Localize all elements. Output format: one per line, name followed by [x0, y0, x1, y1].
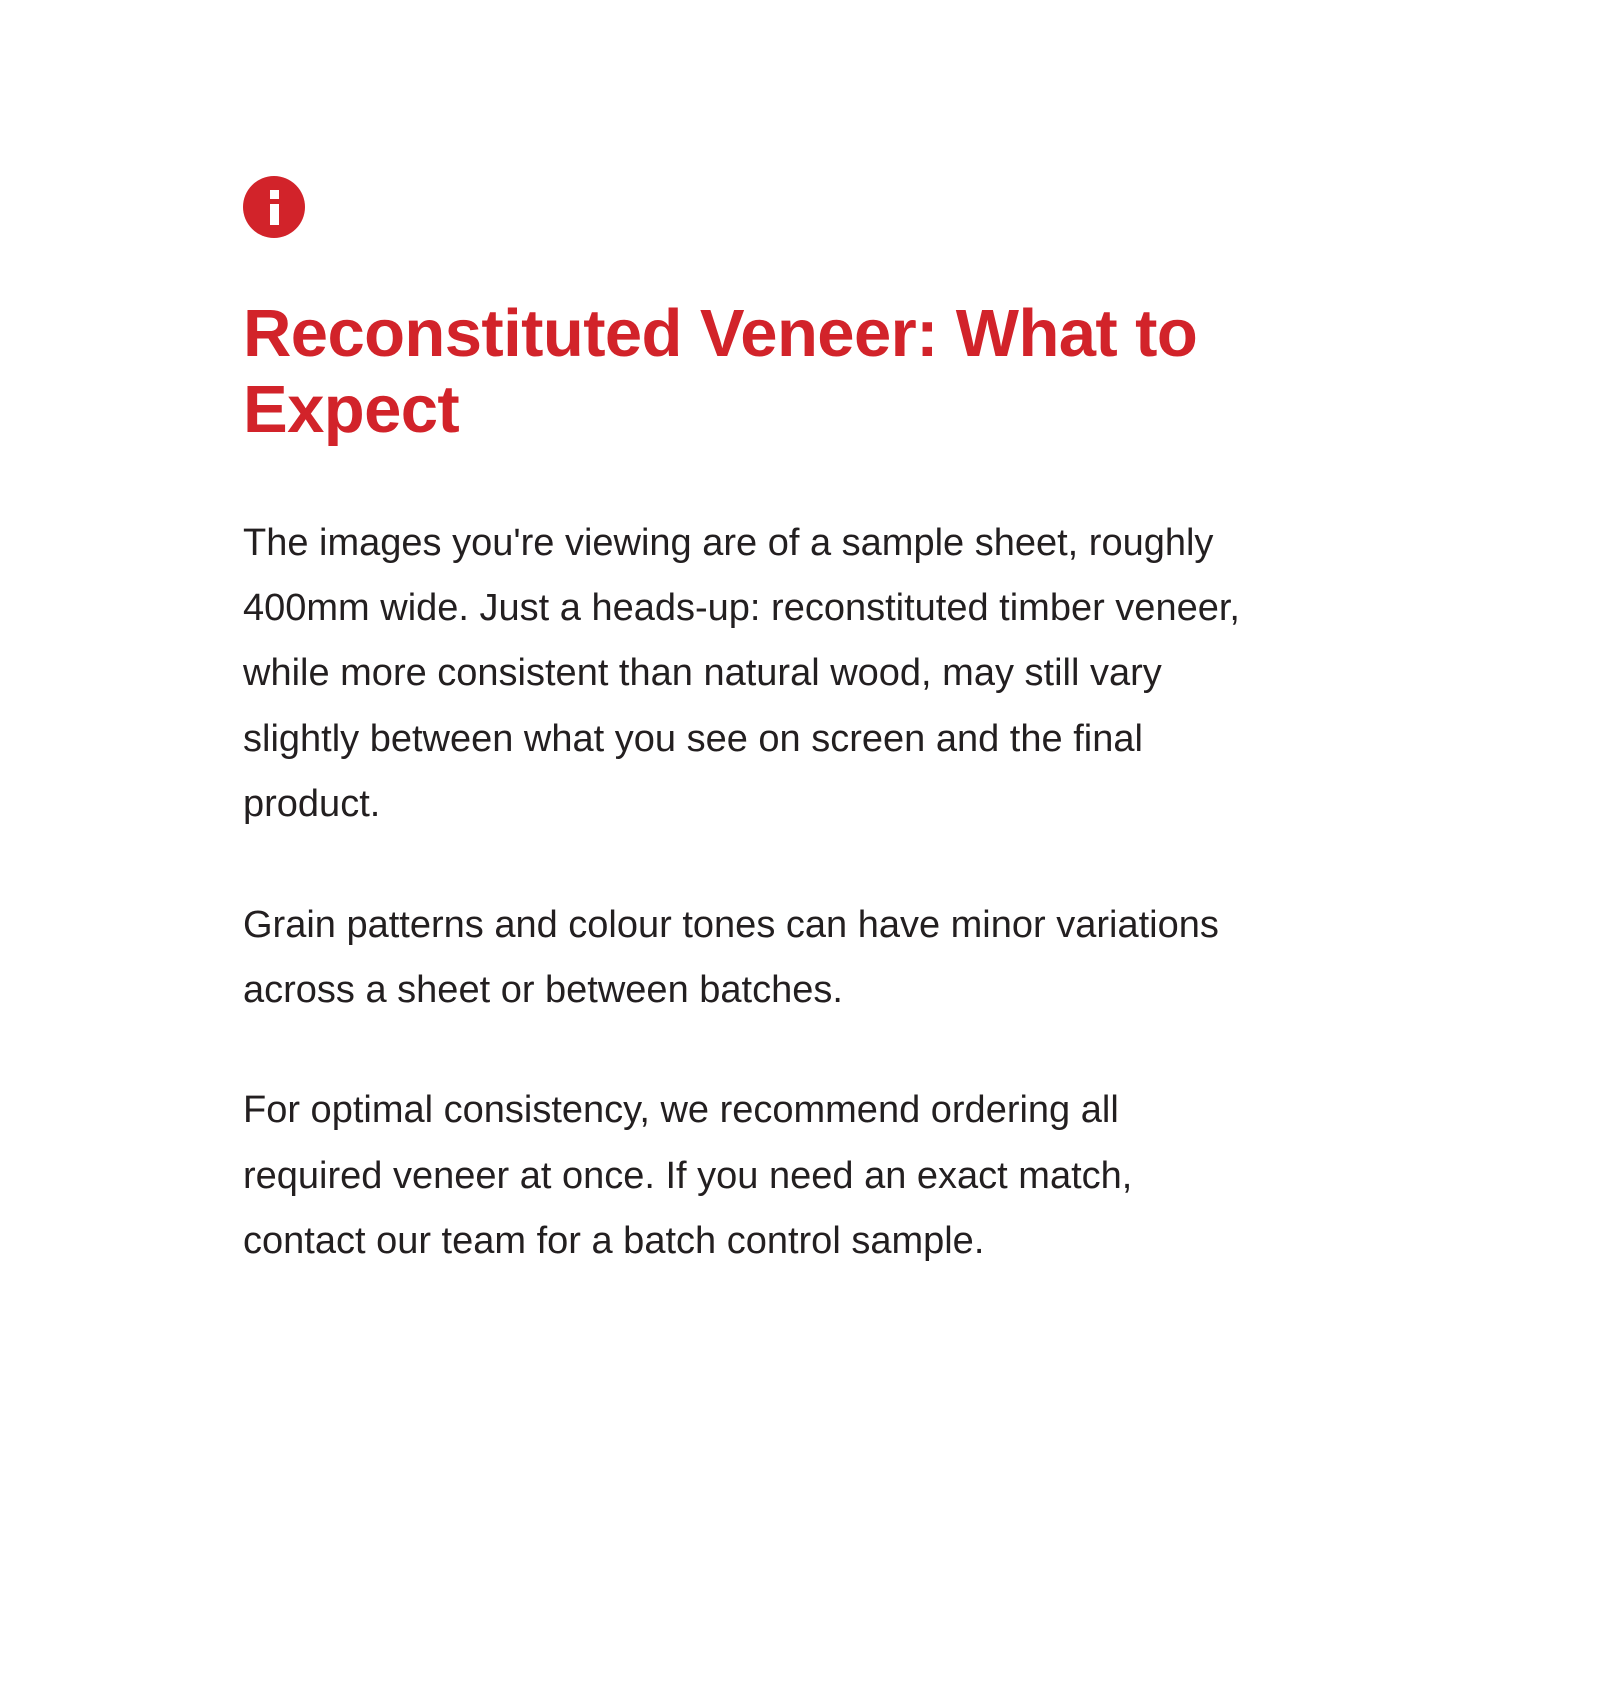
- info-icon-stem: [270, 204, 279, 225]
- notice-icon-row: [243, 176, 1243, 238]
- info-icon-dot: [270, 190, 279, 199]
- notice-body: The images you're viewing are of a sampl…: [243, 511, 1243, 1275]
- notice-paragraph-1: The images you're viewing are of a sampl…: [243, 511, 1243, 838]
- notice-title: Reconstituted Veneer: What to Expect: [243, 296, 1228, 449]
- reconstituted-veneer-notice: Reconstituted Veneer: What to Expect The…: [243, 176, 1243, 1274]
- notice-paragraph-2: Grain patterns and colour tones can have…: [243, 893, 1243, 1024]
- info-icon: [243, 176, 305, 238]
- page-root: Reconstituted Veneer: What to Expect The…: [0, 0, 1620, 1686]
- notice-paragraph-3: For optimal consistency, we recommend or…: [243, 1078, 1243, 1274]
